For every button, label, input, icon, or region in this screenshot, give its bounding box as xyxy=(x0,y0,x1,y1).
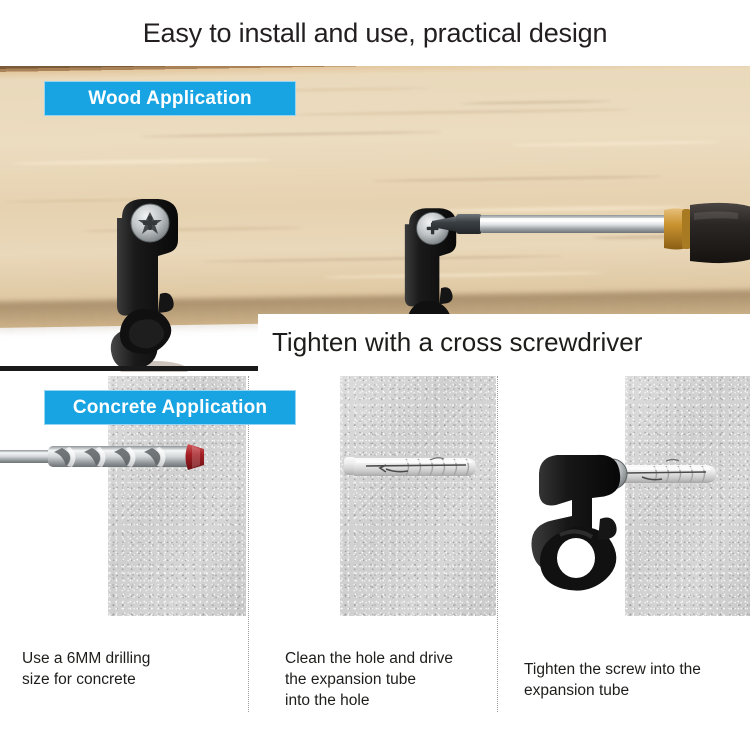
concrete-block-panel-2 xyxy=(340,376,496,616)
mounted-hook-left xyxy=(108,194,200,372)
wood-section-subtitle: Tighten with a cross screwdriver xyxy=(272,326,742,358)
masonry-drill-bit xyxy=(0,436,212,478)
step-3-caption-line-1: Tighten the screw into the xyxy=(524,659,744,680)
badge-wood-application: Wood Application xyxy=(44,81,296,116)
step-1-caption: Use a 6MM drilling size for concrete xyxy=(22,648,232,690)
expansion-tube-anchor xyxy=(344,448,494,486)
step-3-caption-line-2: expansion tube xyxy=(524,680,744,701)
divider-1 xyxy=(248,376,249,712)
concrete-application-section: Use a 6MM drilling size for concrete Cle… xyxy=(0,376,750,750)
page-title: Easy to install and use, practical desig… xyxy=(0,16,750,50)
step-3-caption: Tighten the screw into the expansion tub… xyxy=(524,659,744,701)
step-1-caption-line-1: Use a 6MM drilling xyxy=(22,648,232,669)
infographic-page: Easy to install and use, practical desig… xyxy=(0,0,750,750)
step-2-caption: Clean the hole and drive the expansion t… xyxy=(285,648,500,711)
step-2-caption-line-2: the expansion tube xyxy=(285,669,500,690)
step-2-caption-line-3: into the hole xyxy=(285,690,500,711)
badge-concrete-application: Concrete Application xyxy=(44,390,296,425)
hook-screwed-into-anchor xyxy=(530,431,750,611)
cross-screwdriver xyxy=(432,201,750,265)
step-1-caption-line-2: size for concrete xyxy=(22,669,232,690)
step-2-caption-line-1: Clean the hole and drive xyxy=(285,648,500,669)
